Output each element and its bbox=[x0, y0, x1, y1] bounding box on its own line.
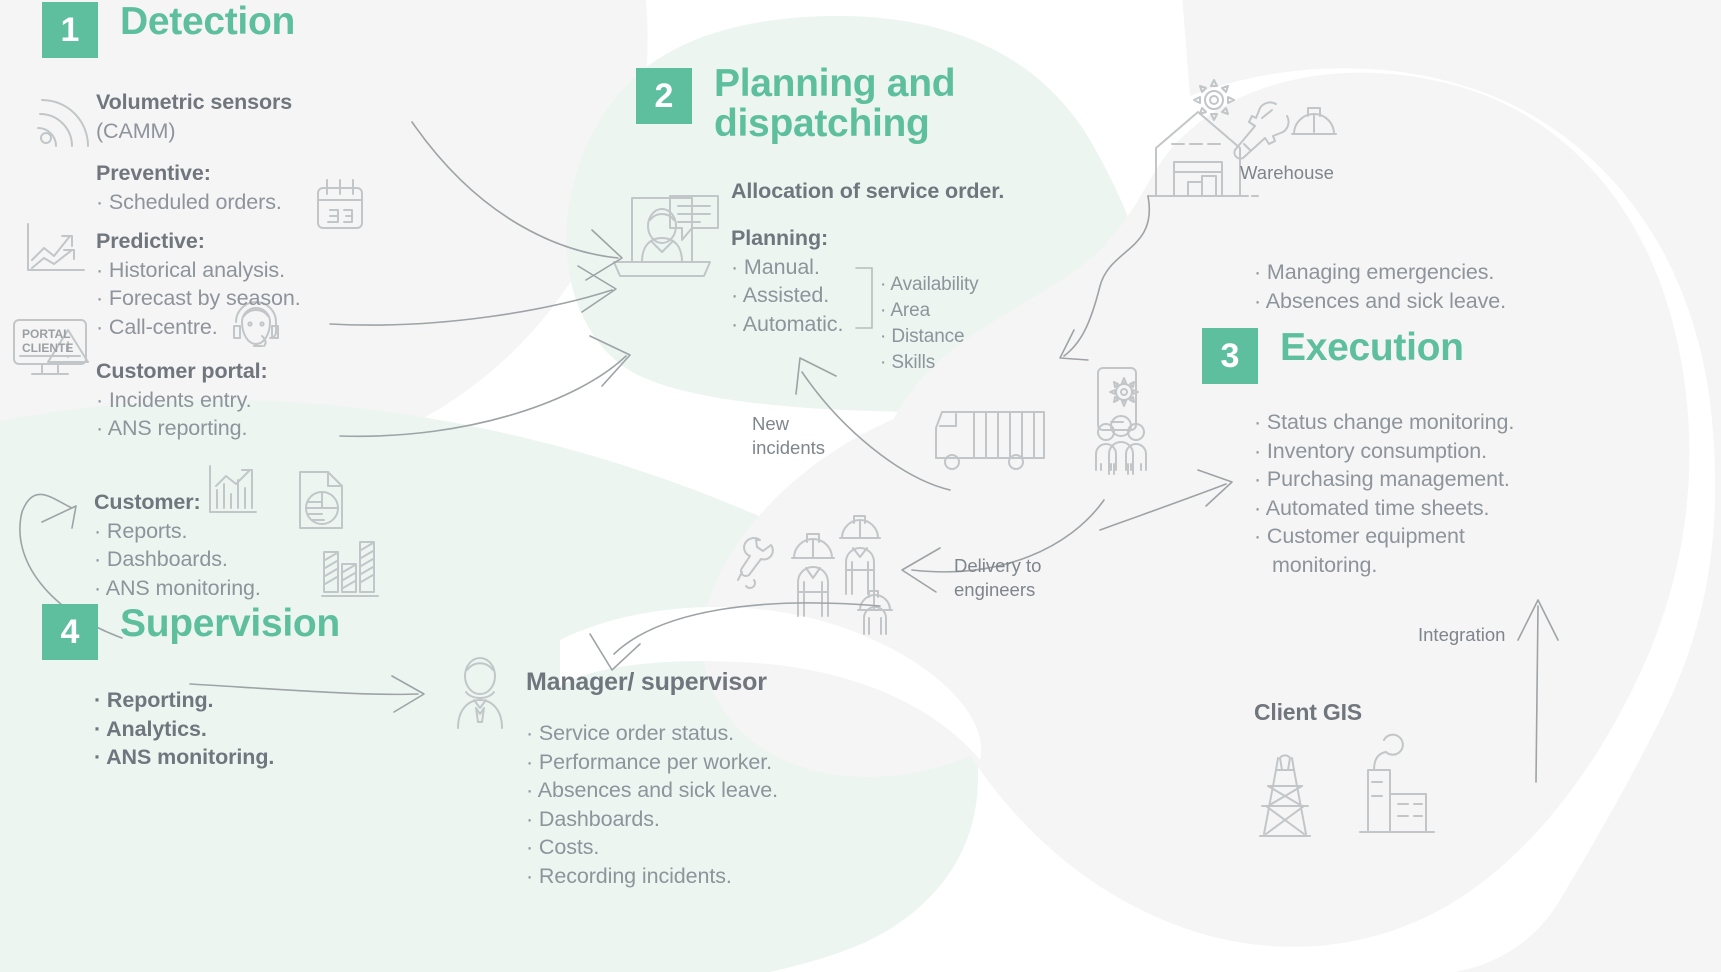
list-item: · Reports. bbox=[94, 517, 261, 546]
engineers-icon bbox=[738, 538, 773, 588]
list-item: · Costs. bbox=[526, 833, 778, 862]
execution-items-block: · Status change monitoring. · Inventory … bbox=[1254, 408, 1514, 580]
new-incidents-label: New incidents bbox=[752, 412, 825, 460]
customer-block: Customer: · Reports. · Dashboards. · ANS… bbox=[94, 488, 261, 602]
planning-list: · Manual. · Assisted. · Automatic. bbox=[731, 253, 843, 339]
list-item: · ANS monitoring. bbox=[94, 743, 274, 772]
sensors-line2: (CAMM) bbox=[96, 117, 292, 146]
list-item: · Assisted. bbox=[731, 281, 843, 310]
list-item: · Purchasing management. bbox=[1254, 465, 1514, 494]
step-number-badge: 4 bbox=[42, 604, 98, 660]
delivery-line1: Delivery to bbox=[954, 554, 1041, 578]
list-item: · Skills bbox=[880, 350, 979, 376]
client-gis-label: Client GIS bbox=[1254, 699, 1362, 726]
customer-portal-icon: PORTAL CLIENTE bbox=[14, 320, 88, 374]
new-incidents-line1: New bbox=[752, 412, 825, 436]
manager-title-text: Manager/ supervisor bbox=[526, 668, 767, 697]
step-number-badge: 1 bbox=[42, 2, 98, 58]
execution-top-list: · Managing emergencies. · Absences and s… bbox=[1254, 258, 1506, 315]
planning-heading: Planning: bbox=[731, 224, 843, 253]
list-item: · Absences and sick leave. bbox=[1254, 287, 1506, 316]
pylon-icon bbox=[1260, 755, 1310, 836]
list-item: · Recording incidents. bbox=[526, 862, 778, 891]
supervision-items-block: · Reporting. · Analytics. · ANS monitori… bbox=[94, 686, 274, 772]
step-number-badge: 2 bbox=[636, 68, 692, 124]
list-item: · Customer equipment bbox=[1254, 522, 1514, 551]
trend-chart-icon bbox=[28, 224, 84, 270]
list-item: · Call-centre. bbox=[96, 313, 301, 342]
customer-portal-list: · Incidents entry. · ANS reporting. bbox=[96, 386, 268, 443]
arrow-portal-to-planning bbox=[340, 336, 630, 436]
preventive-heading: Preventive: bbox=[96, 159, 282, 188]
planning-block: Planning: · Manual. · Assisted. · Automa… bbox=[731, 224, 843, 338]
criteria-block: · Availability · Area · Distance · Skill… bbox=[880, 272, 979, 376]
svg-text:CLIENTE: CLIENTE bbox=[22, 341, 73, 355]
step-title-line2: dispatching bbox=[714, 104, 955, 144]
volumetric-sensors-block: Volumetric sensors (CAMM) bbox=[96, 88, 292, 145]
diagram-canvas: PORTAL CLIENTE bbox=[0, 0, 1721, 972]
list-item: · Managing emergencies. bbox=[1254, 258, 1506, 287]
criteria-bracket bbox=[854, 266, 880, 332]
list-item: · Service order status. bbox=[526, 719, 778, 748]
manager-list: · Service order status. · Performance pe… bbox=[526, 719, 778, 891]
customer-portal-heading: Customer portal: bbox=[96, 357, 268, 386]
preventive-block: Preventive: · Scheduled orders. bbox=[96, 159, 282, 216]
step-number-badge: 3 bbox=[1202, 328, 1258, 384]
criteria-list: · Availability · Area · Distance · Skill… bbox=[880, 272, 979, 376]
list-item: · Availability bbox=[880, 272, 979, 298]
manager-items-block: · Service order status. · Performance pe… bbox=[526, 719, 778, 891]
arrow-predictive-to-planning bbox=[330, 266, 616, 325]
step-supervision-header: 4 Supervision bbox=[42, 604, 340, 660]
team-icon bbox=[1096, 416, 1146, 474]
hard-hat-icon bbox=[1292, 108, 1336, 134]
list-item: · Manual. bbox=[731, 253, 843, 282]
allocation-text: Allocation of service order. bbox=[731, 177, 1004, 206]
customer-portal-block: Customer portal: · Incidents entry. · AN… bbox=[96, 357, 268, 443]
svg-text:PORTAL: PORTAL bbox=[22, 327, 70, 341]
step-title: Detection bbox=[120, 2, 295, 42]
execution-list: · Status change monitoring. · Inventory … bbox=[1254, 408, 1514, 580]
warehouse-label: Warehouse bbox=[1240, 161, 1334, 185]
calendar-icon bbox=[318, 180, 362, 228]
worker-helmet-2-icon bbox=[840, 516, 880, 594]
step-planning-header: 2 Planning and dispatching bbox=[636, 68, 955, 144]
wrench-icon bbox=[1234, 102, 1288, 158]
gear-icon bbox=[1194, 80, 1234, 120]
list-item: · Automatic. bbox=[731, 310, 843, 339]
report-pie-icon bbox=[300, 472, 342, 528]
arrow-execution-to-manager bbox=[590, 603, 880, 670]
list-item: · Automated time sheets. bbox=[1254, 494, 1514, 523]
arrow-engineers-to-execution bbox=[1100, 470, 1232, 530]
step-title: Supervision bbox=[120, 604, 340, 644]
hatched-bars-icon bbox=[322, 542, 378, 596]
worker-helmet-3-icon bbox=[858, 591, 892, 634]
factory-icon bbox=[1360, 735, 1434, 832]
list-item: · Scheduled orders. bbox=[96, 188, 282, 217]
new-incidents-line2: incidents bbox=[752, 436, 825, 460]
warehouse-label-text: Warehouse bbox=[1240, 161, 1334, 185]
mobile-app-icon bbox=[1098, 368, 1138, 430]
integration-label: Integration bbox=[1418, 623, 1505, 647]
list-item: · ANS reporting. bbox=[96, 414, 268, 443]
integration-label-text: Integration bbox=[1418, 623, 1505, 647]
list-item: · Analytics. bbox=[94, 715, 274, 744]
arrow-warehouse-to-execution bbox=[1060, 196, 1149, 360]
step-execution-header: 3 Execution bbox=[1202, 328, 1464, 384]
step-title: Planning and dispatching bbox=[714, 64, 955, 144]
list-item: · Inventory consumption. bbox=[1254, 437, 1514, 466]
predictive-heading: Predictive: bbox=[96, 227, 301, 256]
client-gis-text: Client GIS bbox=[1254, 699, 1362, 726]
arrow-integration bbox=[1518, 600, 1558, 782]
arrow-sensors-to-planning bbox=[412, 122, 622, 280]
wifi-sensor-icon bbox=[38, 100, 88, 146]
customer-list: · Reports. · Dashboards. · ANS monitorin… bbox=[94, 517, 261, 603]
worker-helmet-1-icon bbox=[792, 534, 834, 616]
predictive-list: · Historical analysis. · Forecast by sea… bbox=[96, 256, 301, 342]
dispatcher-laptop-icon bbox=[614, 196, 718, 276]
list-item: monitoring. bbox=[1254, 551, 1514, 580]
list-item: · Forecast by season. bbox=[96, 284, 301, 313]
list-item: · Status change monitoring. bbox=[1254, 408, 1514, 437]
list-item: · Absences and sick leave. bbox=[526, 776, 778, 805]
truck-icon bbox=[936, 412, 1044, 469]
sensors-line1: Volumetric sensors bbox=[96, 88, 292, 117]
predictive-block: Predictive: · Historical analysis. · For… bbox=[96, 227, 301, 341]
list-item: · Historical analysis. bbox=[96, 256, 301, 285]
supervision-list: · Reporting. · Analytics. · ANS monitori… bbox=[94, 686, 274, 772]
allocation-label: Allocation of service order. bbox=[731, 177, 1004, 206]
list-item: · Performance per worker. bbox=[526, 748, 778, 777]
list-item: · Incidents entry. bbox=[96, 386, 268, 415]
delivery-line2: engineers bbox=[954, 578, 1041, 602]
list-item: · Reporting. bbox=[94, 686, 274, 715]
list-item: · Dashboards. bbox=[94, 545, 261, 574]
manager-title: Manager/ supervisor bbox=[526, 668, 767, 697]
step-detection-header: 1 Detection bbox=[42, 2, 295, 58]
list-item: · Distance bbox=[880, 324, 979, 350]
manager-icon bbox=[458, 658, 502, 728]
delivery-label: Delivery to engineers bbox=[954, 554, 1041, 602]
execution-top-items: · Managing emergencies. · Absences and s… bbox=[1254, 258, 1506, 315]
list-item: · Area bbox=[880, 298, 979, 324]
list-item: · ANS monitoring. bbox=[94, 574, 261, 603]
step-title-line1: Planning and bbox=[714, 64, 955, 104]
customer-heading: Customer: bbox=[94, 488, 261, 517]
list-item: · Dashboards. bbox=[526, 805, 778, 834]
preventive-list: · Scheduled orders. bbox=[96, 188, 282, 217]
step-title: Execution bbox=[1280, 328, 1464, 368]
